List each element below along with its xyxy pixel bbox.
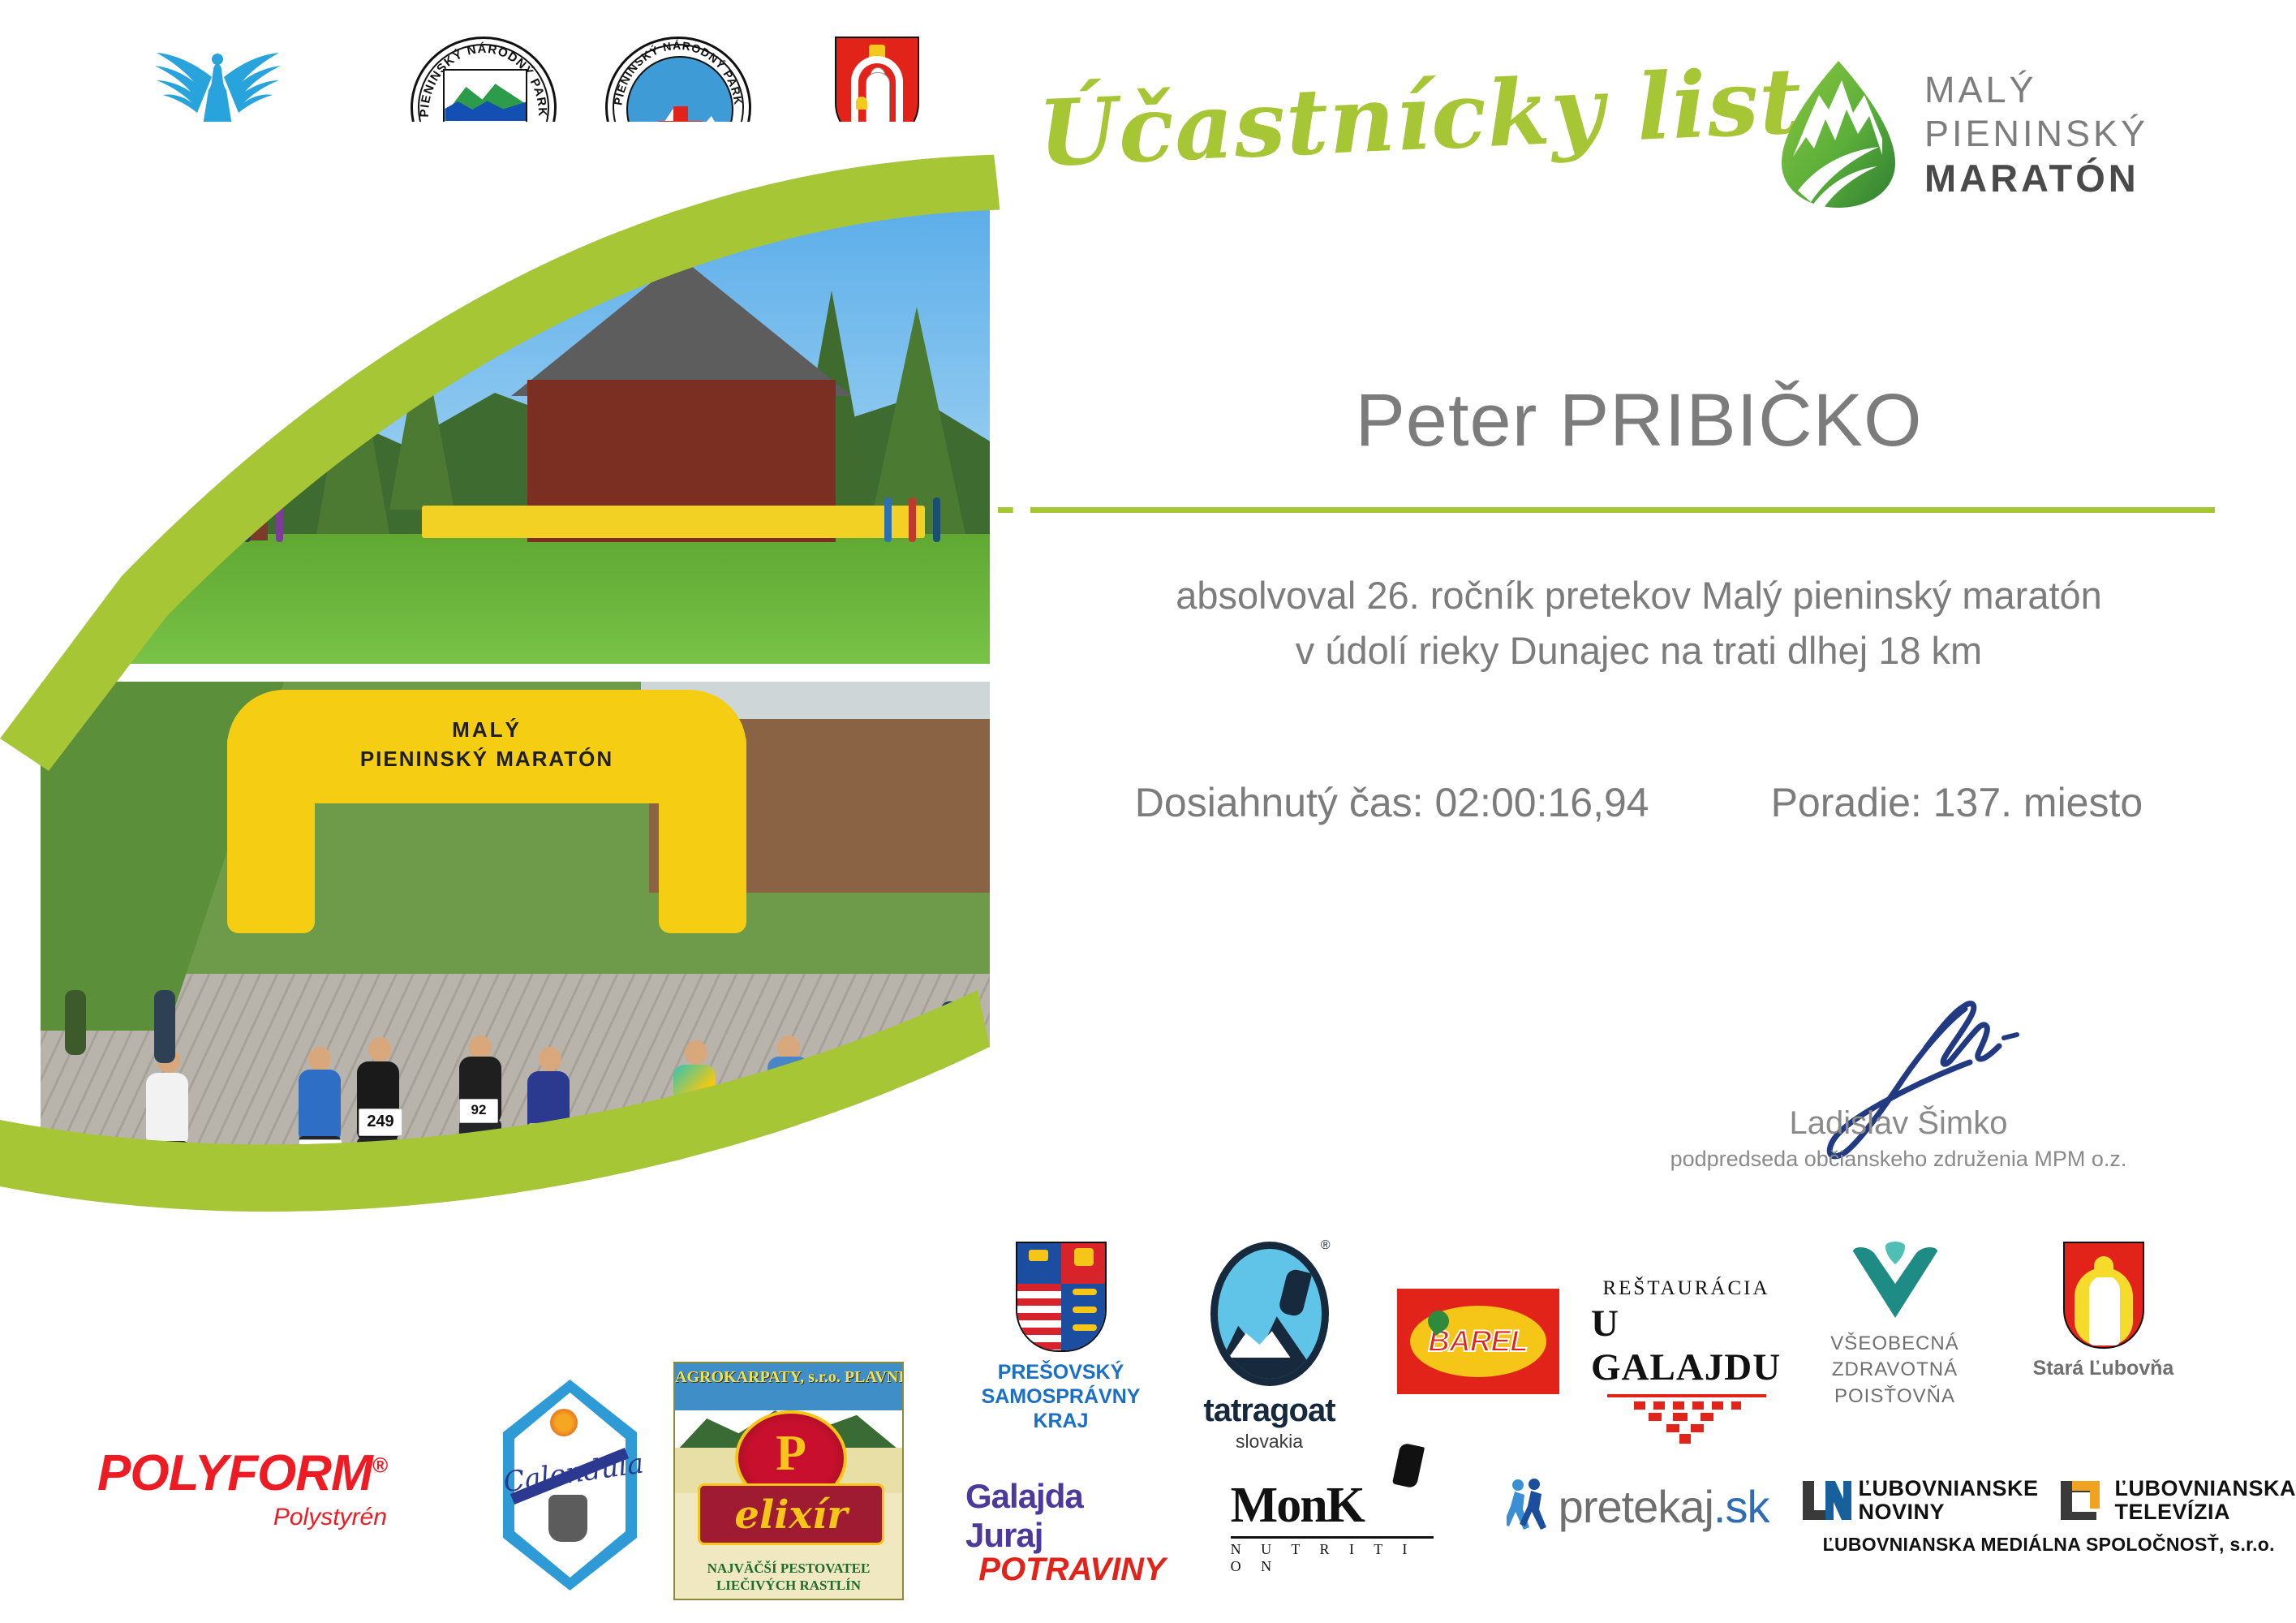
sponsor-row-bottom: Galajda Juraj POTRAVINY MonK N U T R I T… <box>965 1477 2296 1615</box>
results-row: Dosiahnutý čas: 02:00:16,94 Poradie: 137… <box>998 779 2280 826</box>
tatragoat-mountain-goat-icon <box>1210 1242 1329 1386</box>
stara-lubovna-coat-of-arms-icon <box>2063 1242 2144 1349</box>
polyform-word: POLYFORM <box>97 1445 372 1501</box>
monk-word-text: MonK <box>1231 1478 1364 1533</box>
barel-logo: BAREL <box>1397 1289 1559 1394</box>
sponsor-vszp: VŠEOBECNÁ ZDRAVOTNÁ POISŤOVŇA <box>1799 1242 1990 1410</box>
monk-wordmark: MonK <box>1231 1477 1434 1535</box>
lt-line-1: ĽUBOVNIANSKA <box>2114 1477 2296 1500</box>
vszp-chevron-icon <box>1850 1242 1941 1321</box>
polyform-wordmark: POLYFORM® <box>97 1444 387 1502</box>
pretekaj-wordmark: pretekaj.sk <box>1559 1480 1769 1533</box>
body-line-2: v údolí rieky Dunajec na trati dlhej 18 … <box>998 623 2280 678</box>
result-time-value: 02:00:16,94 <box>1434 780 1649 825</box>
sponsor-monk-nutrition: MonK N U T R I T I O N <box>1231 1477 1434 1575</box>
monk-subtitle: N U T R I T I O N <box>1231 1541 1434 1575</box>
elixir-wordmark: elixír <box>700 1492 882 1538</box>
presov-coat-of-arms-icon <box>1016 1242 1107 1352</box>
photo-collage-panel: MALÝ PIENINSKÝ MARATÓN 209 74 249 <box>0 122 1030 1436</box>
sponsor-calendula: Calendula <box>503 1380 637 1591</box>
sponsor-tatragoat: ® tatragoat slovakia <box>1174 1242 1365 1453</box>
result-time: Dosiahnutý čas: 02:00:16,94 <box>1135 779 1649 826</box>
lt-line-2: TELEVÍZIA <box>2114 1500 2296 1524</box>
participant-name: Peter PRIBIČKO <box>998 381 2280 460</box>
vszp-caption: VŠEOBECNÁ ZDRAVOTNÁ POISŤOVŇA <box>1830 1331 1958 1410</box>
sponsor-stara-lubovna: Stará Ľubovňa <box>2008 1242 2199 1380</box>
name-divider-rule <box>998 507 2215 513</box>
vszp-line-3: POISŤOVŇA <box>1830 1384 1958 1410</box>
sponsor-u-galajdu: REŠTAURÁCIA U GALAJDU <box>1591 1277 1782 1445</box>
sponsor-polyform: POLYFORM® Polystyrén <box>97 1444 387 1531</box>
sponsor-presovsky-kraj: PREŠOVSKÝ SAMOSPRÁVNY KRAJ <box>965 1242 1156 1433</box>
stara-lubovna-caption: Stará Ľubovňa <box>2033 1357 2174 1380</box>
pretekaj-suffix: .sk <box>1713 1481 1769 1532</box>
sponsor-lubovnianska-medialna: ĽUBOVNIANSKE NOVINY ĽUBOVNIANSKA TELEVÍZ… <box>1801 1477 2296 1556</box>
result-time-label: Dosiahnutý čas: <box>1135 780 1424 825</box>
pretekaj-word: pretekaj <box>1559 1481 1713 1532</box>
sponsor-galajda-juraj: Galajda Juraj POTRAVINY <box>965 1477 1166 1588</box>
lubovnianske-noviny-icon <box>1801 1478 1851 1523</box>
sponsor-agrokarpaty-elixir: AGROKARPATY, s.r.o. PLAVNICA P elixír NA… <box>673 1362 904 1600</box>
elixir-foot-line-2: LIEČIVÝCH RASTLÍN <box>675 1577 902 1594</box>
ln-line-1: ĽUBOVNIANSKE <box>1858 1477 2038 1500</box>
vszp-line-1: VŠEOBECNÁ <box>1830 1331 1958 1357</box>
mpm-brand-logo: MALÝ PIENINSKÝ MARATÓN <box>1769 57 2272 211</box>
galajda-line-1: Galajda Juraj <box>965 1477 1166 1555</box>
lubovnianska-televizia-text: ĽUBOVNIANSKA TELEVÍZIA <box>2114 1477 2296 1524</box>
result-rank: Poradie: 137. miesto <box>1771 779 2143 826</box>
mpm-line-3: MARATÓN <box>1924 159 2148 197</box>
page-title: Účastnícky list <box>1036 53 1689 187</box>
sponsor-pretekaj-sk: pretekaj.sk <box>1507 1477 1769 1535</box>
tatragoat-wordmark: tatragoat <box>1203 1393 1335 1429</box>
folk-ornament-icon <box>1626 1400 1748 1445</box>
calendula-flower-icon <box>550 1409 578 1436</box>
polyform-subtitle: Polystyrén <box>97 1504 387 1531</box>
runners-icon <box>1507 1477 1552 1535</box>
lubovnianska-medialna-footer: ĽUBOVNIANSKA MEDIÁLNA SPOLOČNOSŤ, s.r.o. <box>1823 1534 2275 1556</box>
tatragoat-subtitle: slovakia <box>1236 1431 1303 1453</box>
presov-line-2: SAMOSPRÁVNY <box>982 1384 1141 1409</box>
polyform-registered-mark: ® <box>372 1453 387 1477</box>
galajdu-wordmark: U GALAJDU <box>1591 1302 1782 1389</box>
signature-block: Ladislav Šimko podpredseda občianskeho z… <box>1623 990 2174 1172</box>
tatragoat-registered-mark: ® <box>1321 1238 1331 1253</box>
galajdu-top-label: REŠTAURÁCIA <box>1602 1277 1769 1300</box>
agrokarpaty-title: AGROKARPATY, s.r.o. PLAVNICA <box>675 1368 902 1387</box>
mpm-line-1: MALÝ <box>1924 71 2148 108</box>
lubovnianske-noviny-text: ĽUBOVNIANSKE NOVINY <box>1858 1477 2038 1524</box>
elixir-foot-line-1: NAJVÄČŠÍ PESTOVATEĽ <box>675 1560 902 1577</box>
presov-line-3: KRAJ <box>982 1409 1141 1433</box>
signature-name: Ladislav Šimko <box>1623 1105 2174 1142</box>
result-rank-label: Poradie: <box>1771 780 1922 825</box>
certificate-body-text: absolvoval 26. ročník pretekov Malý pien… <box>998 568 2280 678</box>
sponsor-row-main: PREŠOVSKÝ SAMOSPRÁVNY KRAJ ® tatragoat s… <box>965 1242 2280 1461</box>
participant-name-block: Peter PRIBIČKO <box>998 381 2280 460</box>
leaf-mountain-icon <box>1769 59 1907 209</box>
ln-line-2: NOVINY <box>1858 1500 2038 1524</box>
sponsor-barel: BAREL <box>1382 1289 1573 1394</box>
green-curve-frame <box>0 122 1030 1436</box>
signature-role: podpredseda občianskeho združenia MPM o.… <box>1623 1147 2174 1172</box>
presov-caption: PREŠOVSKÝ SAMOSPRÁVNY KRAJ <box>982 1360 1141 1433</box>
result-rank-value: 137. miesto <box>1933 780 2143 825</box>
lubovnianska-televizia-icon <box>2057 1478 2108 1523</box>
vszp-line-2: ZDRAVOTNÁ <box>1830 1357 1958 1383</box>
mpm-line-2: PIENINSKÝ <box>1924 115 2148 152</box>
elixir-footer: NAJVÄČŠÍ PESTOVATEĽ LIEČIVÝCH RASTLÍN <box>675 1560 902 1595</box>
body-line-1: absolvoval 26. ročník pretekov Malý pien… <box>998 568 2280 623</box>
presov-line-1: PREŠOVSKÝ <box>982 1360 1141 1384</box>
mortar-icon <box>548 1495 587 1542</box>
galajda-line-2: POTRAVINY <box>965 1552 1166 1588</box>
